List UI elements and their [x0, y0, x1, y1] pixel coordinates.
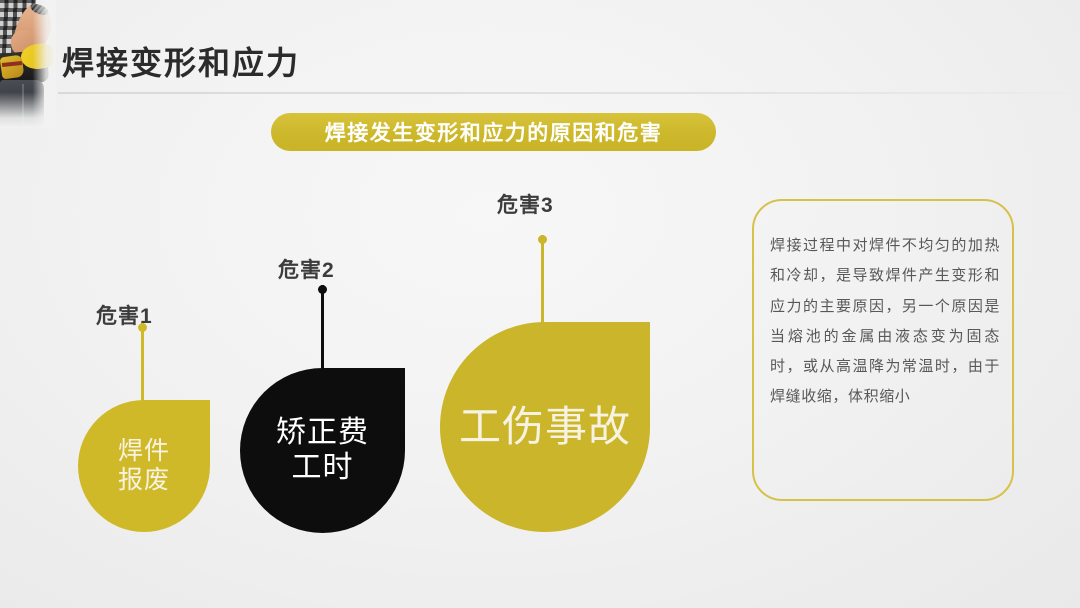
hazard-node-2-text: 矫正费工时: [276, 416, 369, 486]
hazard-node-1-shape[interactable]: 焊件报废: [78, 400, 210, 532]
hazard-node-2-shape[interactable]: 矫正费工时: [240, 368, 405, 533]
connector-dot-icon: [318, 285, 327, 294]
page-title: 焊接变形和应力: [62, 38, 300, 84]
hazard-node-3-shape[interactable]: 工伤事故: [440, 322, 650, 532]
worker-photo: [0, 0, 56, 128]
hazard-node-3-connector: [541, 235, 544, 325]
hazard-node-2-label: 危害2: [278, 254, 335, 284]
connector-dot-icon: [538, 235, 547, 244]
title-divider: [58, 92, 1068, 94]
section-banner: 焊接发生变形和应力的原因和危害: [271, 113, 716, 151]
hazard-node-2-connector: [321, 285, 324, 371]
photo-fade-overlay: [0, 0, 56, 128]
hazard-node-1-connector: [141, 323, 144, 403]
description-text: 焊接过程中对焊件不均匀的加热和冷却，是导致焊件产生变形和应力的主要原因，另一个原…: [770, 231, 1000, 413]
section-banner-label: 焊接发生变形和应力的原因和危害: [325, 117, 663, 147]
hazard-node-1-text: 焊件报废: [118, 437, 170, 495]
connector-dot-icon: [138, 323, 147, 332]
hazard-node-3-label: 危害3: [497, 189, 554, 219]
description-card: 焊接过程中对焊件不均匀的加热和冷却，是导致焊件产生变形和应力的主要原因，另一个原…: [752, 199, 1014, 501]
hazard-node-3-text: 工伤事故: [459, 403, 631, 452]
slide-canvas: 焊接变形和应力 焊接发生变形和应力的原因和危害 危害1 焊件报废 危害2 矫正费…: [0, 0, 1080, 608]
